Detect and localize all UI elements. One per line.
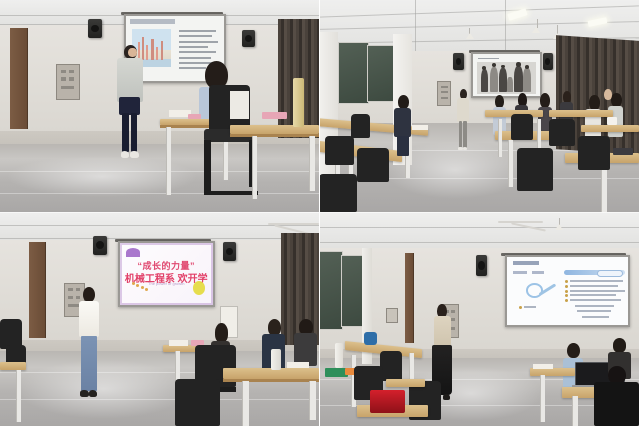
desk-leg xyxy=(572,396,578,426)
window xyxy=(338,42,369,103)
ceiling-grid-line xyxy=(0,225,319,226)
chair-back xyxy=(517,148,552,190)
desk-leg xyxy=(16,370,21,421)
desk-leg xyxy=(242,381,248,426)
collage-panel-top-left xyxy=(0,0,319,212)
door xyxy=(10,28,29,130)
panel-divider-vertical xyxy=(319,0,320,426)
chair-leg xyxy=(204,140,210,195)
chair-back xyxy=(511,114,533,139)
ceiling-speaker-icon xyxy=(88,19,102,38)
presenter-figure xyxy=(455,89,471,150)
desk-edge xyxy=(223,379,319,382)
projection-screen xyxy=(471,52,542,98)
desk xyxy=(223,368,319,379)
chair-back xyxy=(549,119,575,147)
chair-back xyxy=(319,174,357,212)
wall-speaker-icon xyxy=(543,53,553,70)
desk-leg xyxy=(166,127,171,195)
chair-back xyxy=(357,148,389,182)
projection-screen: “成长的力量” 机械工程系 欢开学 The power of growth xyxy=(118,241,215,307)
ceiling-speaker-icon xyxy=(223,242,236,261)
chair-back xyxy=(325,136,354,166)
desk xyxy=(581,125,639,132)
slide-header-bar xyxy=(513,261,540,265)
floor xyxy=(0,144,319,212)
collage-panel-bottom-right xyxy=(319,212,639,426)
wall-control-panel xyxy=(56,64,80,100)
bag xyxy=(613,148,632,154)
slide-bottom-right xyxy=(507,257,629,325)
paper xyxy=(533,364,552,369)
paper-cup xyxy=(607,117,617,125)
desk-leg xyxy=(309,381,315,420)
wall-speaker-icon xyxy=(453,53,463,70)
chair-back xyxy=(175,379,220,426)
desk-leg xyxy=(540,375,545,422)
paper xyxy=(412,125,428,130)
slide-bottom-left: “成长的力量” 机械工程系 欢开学 The power of growth xyxy=(120,243,213,305)
chair-base xyxy=(204,191,258,195)
door xyxy=(29,242,46,338)
desk-leg xyxy=(508,140,513,187)
ceiling-grid-line xyxy=(505,0,506,51)
ceiling-grid-line xyxy=(319,227,639,228)
desk-leg xyxy=(498,119,502,157)
attendee-figure xyxy=(594,366,639,426)
collage-panel-top-right xyxy=(319,0,639,212)
slide-top-right xyxy=(473,54,540,96)
desk xyxy=(230,125,319,133)
desk-leg xyxy=(309,136,314,191)
slide-dot-decoration xyxy=(131,281,151,290)
ceiling-grid-line xyxy=(319,242,639,243)
ceiling-fan xyxy=(498,221,543,223)
window xyxy=(341,255,364,328)
pink-item xyxy=(188,114,201,118)
wall-control-panel xyxy=(437,81,451,106)
slide-arc-decoration xyxy=(126,248,141,257)
desk-leg xyxy=(252,136,257,200)
ceiling xyxy=(0,212,319,240)
paper xyxy=(287,362,309,368)
blue-bottle xyxy=(364,332,377,345)
paper xyxy=(169,340,188,345)
window xyxy=(367,45,395,102)
ceiling-grid-line xyxy=(415,0,416,51)
window xyxy=(319,251,343,330)
slide-subheader xyxy=(532,271,544,274)
presenter-figure xyxy=(115,45,147,159)
water-bottle xyxy=(271,349,281,370)
floor-seam xyxy=(0,171,319,172)
door xyxy=(405,253,414,343)
floor-reflection xyxy=(16,359,191,419)
pendant-light xyxy=(466,33,474,39)
photo-collage: “成长的力量” 机械工程系 欢开学 The power of growth xyxy=(0,0,639,426)
pink-notebook xyxy=(262,112,288,118)
red-bag xyxy=(370,390,405,414)
pendant-light xyxy=(532,27,540,33)
slide-header-bar xyxy=(130,19,175,24)
desk-leg xyxy=(601,163,607,212)
slide-pill xyxy=(597,270,623,276)
desk xyxy=(386,379,424,388)
chair-back xyxy=(578,136,610,170)
wall-switch xyxy=(386,308,398,323)
slide-subheader xyxy=(513,271,528,274)
wall-speaker-icon xyxy=(476,255,488,276)
presenter-figure xyxy=(77,287,103,398)
chair-back xyxy=(351,114,370,137)
pendant-light xyxy=(555,224,563,230)
water-bottle xyxy=(335,343,343,369)
ceiling-speaker-icon xyxy=(242,30,255,47)
thermos-bottle xyxy=(293,78,303,127)
desk-edge xyxy=(230,134,319,137)
floor-seam xyxy=(0,399,319,400)
chair-back xyxy=(380,351,402,381)
ceiling-speaker-icon xyxy=(93,236,107,255)
floor-seam xyxy=(0,193,319,194)
collage-panel-bottom-left: “成长的力量” 机械工程系 欢开学 The power of growth xyxy=(0,212,319,426)
panel-divider-horizontal xyxy=(0,212,639,213)
desk xyxy=(549,110,613,116)
whiteboard xyxy=(230,91,249,119)
projection-screen xyxy=(505,255,631,327)
desk xyxy=(530,368,575,375)
desk xyxy=(0,362,26,371)
